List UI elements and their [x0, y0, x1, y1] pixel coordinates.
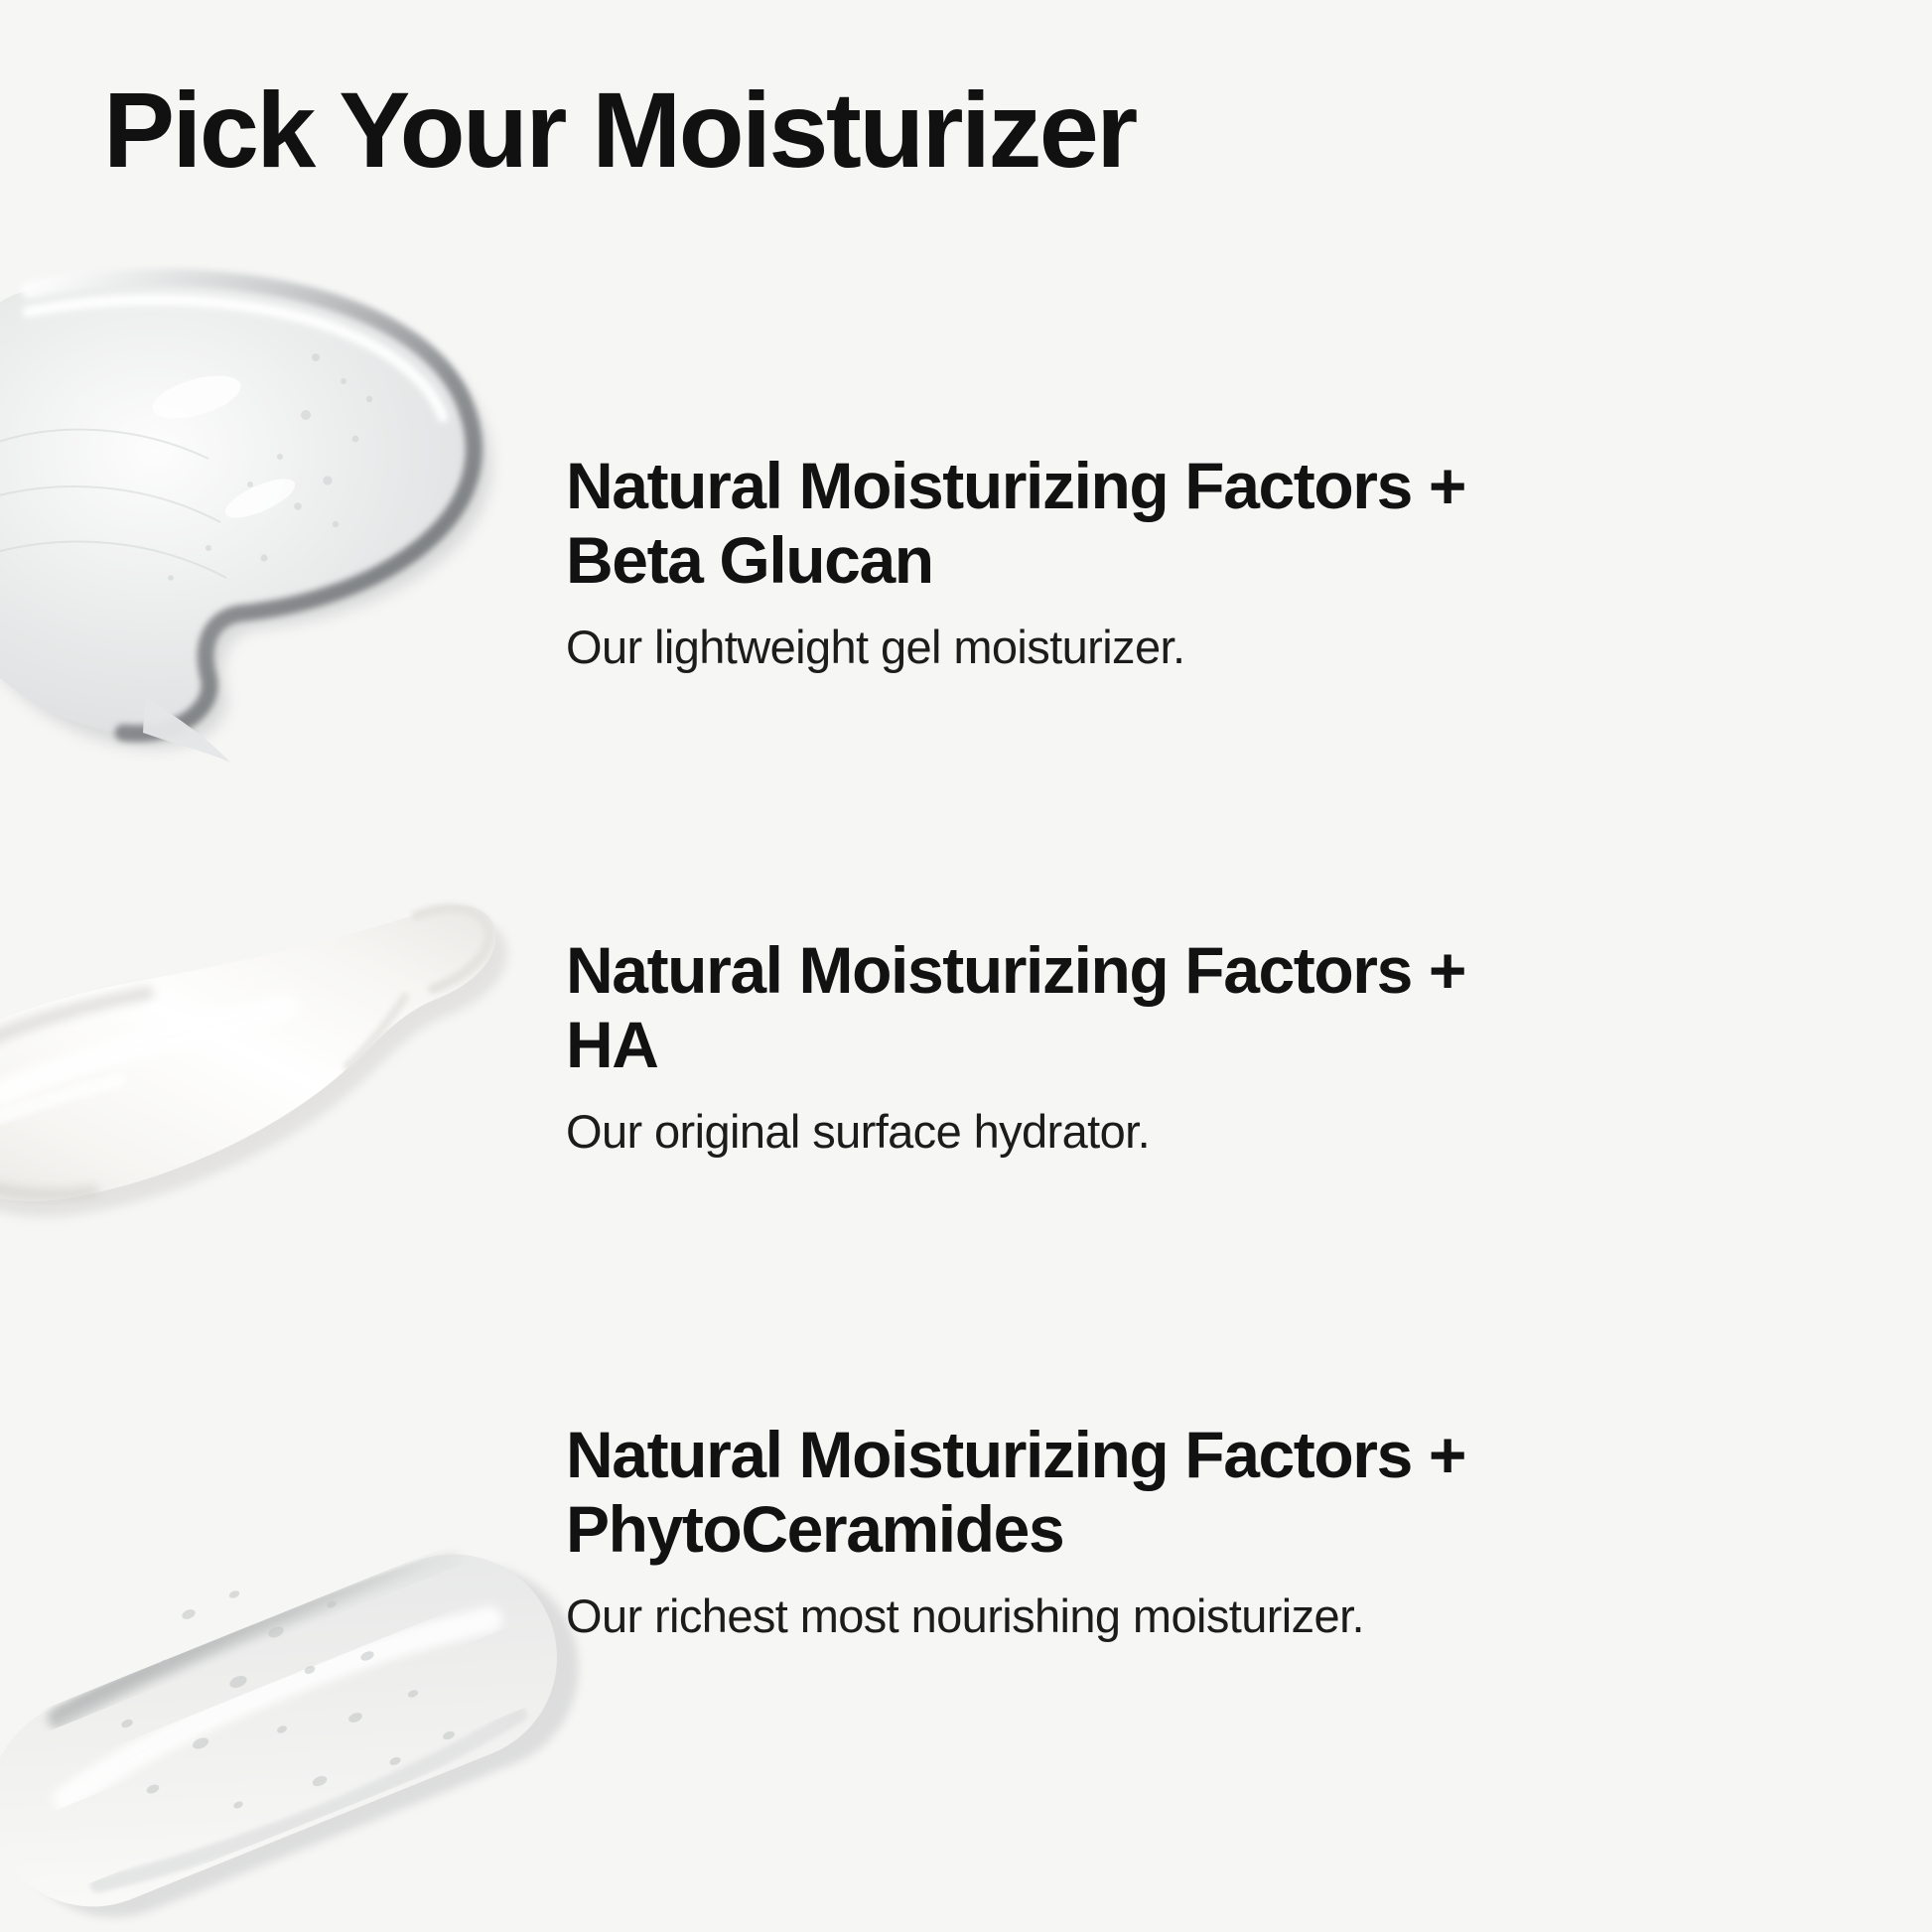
product-comparison-graphic: Pick Your Moisturizer	[0, 0, 1932, 1932]
product-description: Our lightweight gel moisturizer.	[566, 619, 1886, 677]
product-name: Natural Moisturizing Factors + HA	[566, 933, 1569, 1081]
rich-cream-swatch	[0, 1420, 596, 1932]
product-description: Our richest most nourishing moisturizer.	[566, 1587, 1886, 1646]
product-item-beta-glucan: Natural Moisturizing Factors + Beta Gluc…	[566, 449, 1886, 677]
product-list: Natural Moisturizing Factors + Beta Gluc…	[566, 0, 1886, 1932]
white-cream-swatch	[0, 854, 536, 1311]
product-description: Our original surface hydrator.	[566, 1103, 1886, 1162]
product-item-phytoceramides: Natural Moisturizing Factors + PhytoCera…	[566, 1418, 1886, 1646]
product-name: Natural Moisturizing Factors + PhytoCera…	[566, 1418, 1737, 1566]
product-item-ha: Natural Moisturizing Factors + HA Our or…	[566, 933, 1886, 1162]
clear-gel-swatch	[0, 250, 546, 766]
product-name: Natural Moisturizing Factors + Beta Gluc…	[566, 449, 1569, 597]
